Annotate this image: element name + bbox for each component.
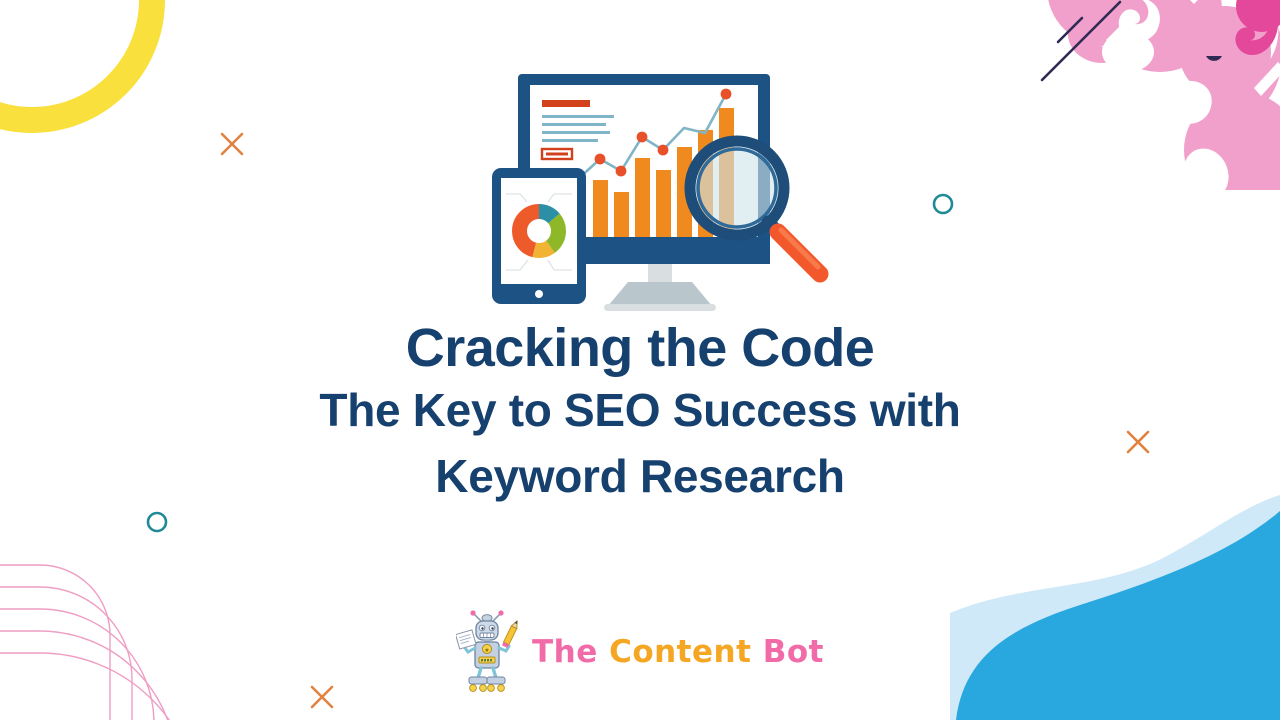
circle-outline	[145, 510, 169, 534]
title-line-sub2: Keyword Research	[0, 444, 1280, 509]
logo-word-the: The	[532, 634, 598, 670]
slide-canvas: Cracking the Code The Key to SEO Success…	[0, 0, 1280, 720]
tablet-device	[492, 168, 586, 304]
pink-blob-shape	[1010, 0, 1280, 190]
title-line-main: Cracking the Code	[0, 318, 1280, 378]
title-line-sub1: The Key to SEO Success with	[0, 378, 1280, 443]
yellow-ring-arc	[0, 0, 182, 150]
logo-word-bot: Bot	[763, 634, 824, 670]
logo-word-content: Content	[609, 634, 751, 670]
x-mark	[218, 130, 246, 158]
circle-outline	[931, 192, 955, 216]
page-title: Cracking the Code The Key to SEO Success…	[0, 318, 1280, 509]
robot-mascot-icon: ★	[456, 608, 518, 696]
logo-wordmark: The Content Bot	[532, 634, 824, 670]
seo-analytics-illustration	[480, 58, 860, 320]
brand-logo[interactable]: ★	[0, 608, 1280, 696]
svg-text:★: ★	[484, 647, 489, 654]
